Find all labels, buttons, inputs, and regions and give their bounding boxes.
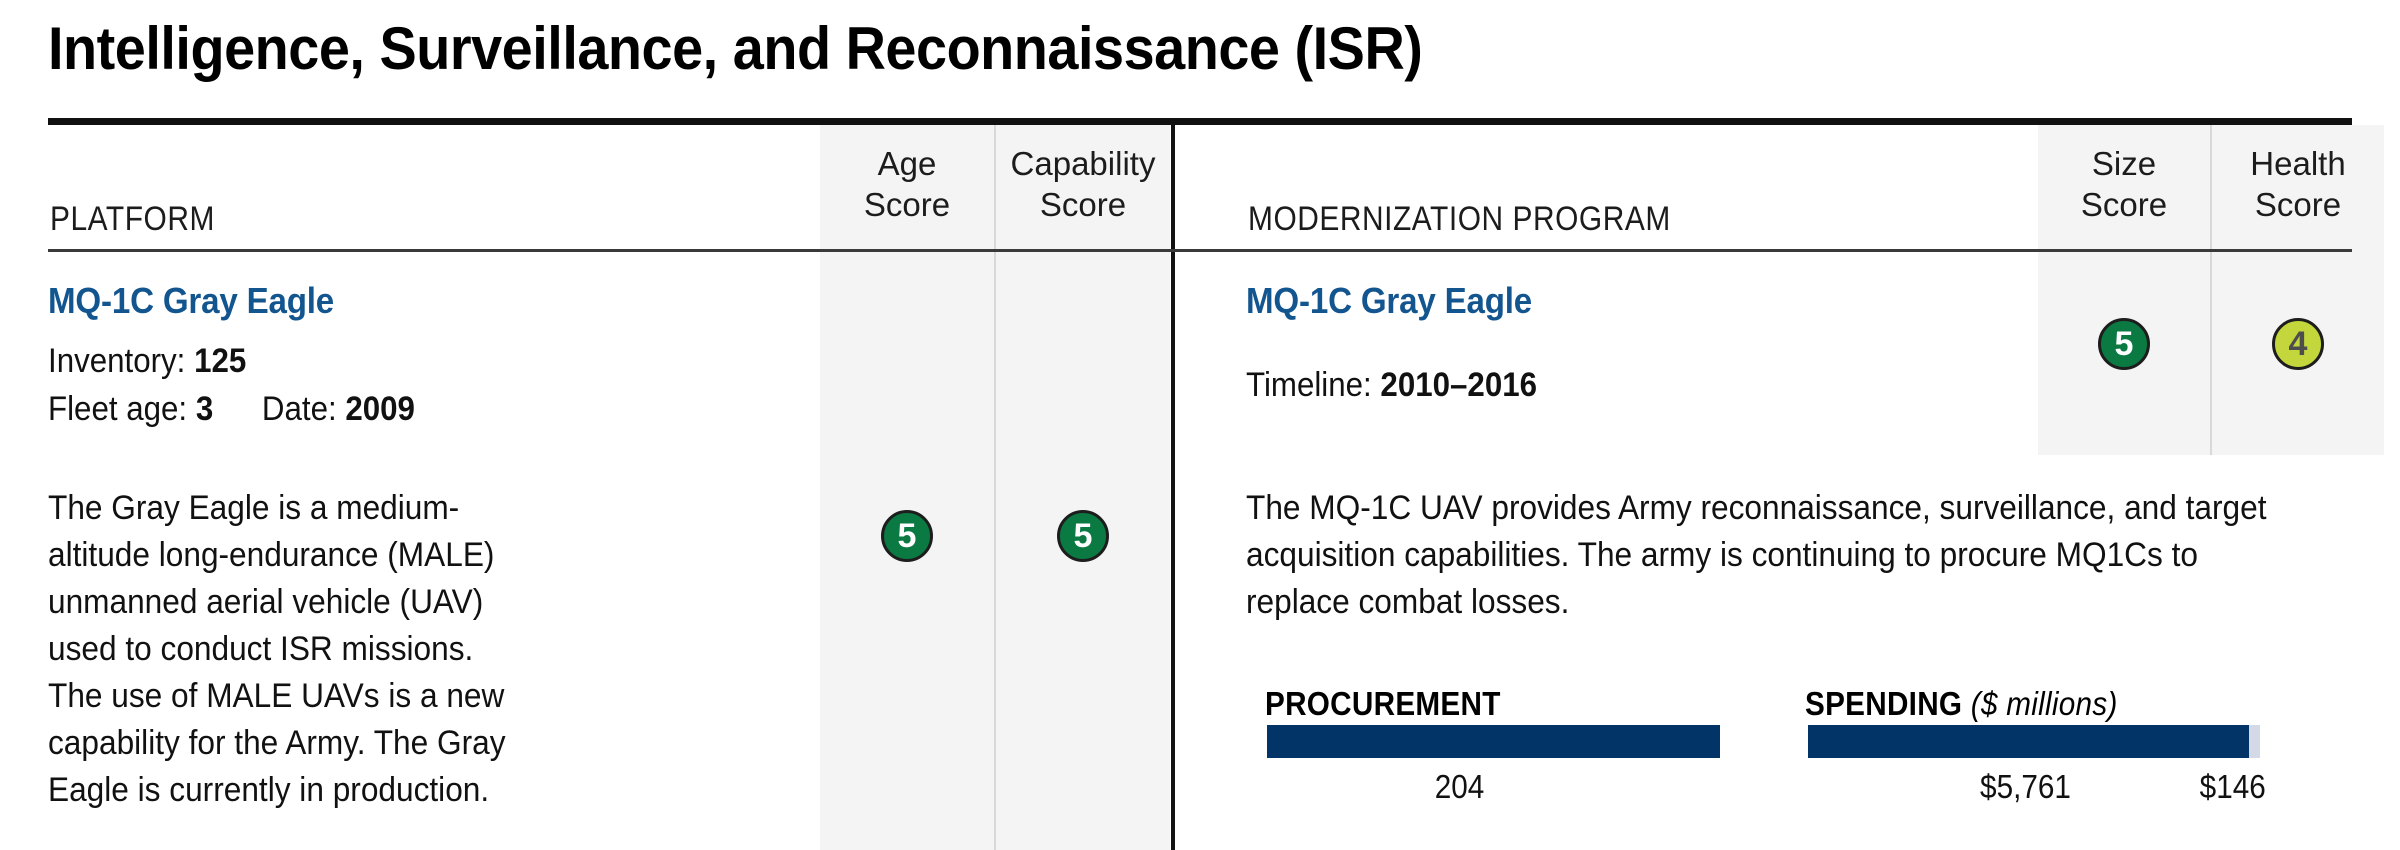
- capability-score-badge: 5: [1057, 510, 1109, 562]
- column-header-age-score-line1: Age: [820, 143, 994, 184]
- timeline-value: 2010–2016: [1380, 366, 1537, 404]
- column-header-age-score-line2: Score: [820, 184, 994, 225]
- capability-score-column: [996, 125, 1170, 850]
- column-header-size-score-line1: Size: [2038, 143, 2210, 184]
- procurement-bar: [1267, 725, 1720, 758]
- program-name[interactable]: MQ-1C Gray Eagle: [1246, 280, 1532, 322]
- column-header-age-score: Age Score: [820, 143, 994, 225]
- platform-name[interactable]: MQ-1C Gray Eagle: [48, 280, 334, 322]
- fleet-age-value: 3: [196, 390, 213, 428]
- spending-bar-segment-remaining: [2249, 725, 2260, 758]
- spending-bar-segment-spent: [1808, 725, 2249, 758]
- age-score-badge: 5: [881, 510, 933, 562]
- platform-fleet-age-and-date: Fleet age: 3 Date: 2009: [48, 390, 415, 429]
- column-header-health-score-line2: Score: [2212, 184, 2384, 225]
- column-header-capability-score: Capability Score: [996, 143, 1170, 225]
- spending-chart-title: SPENDING ($ millions): [1805, 685, 2118, 723]
- program-timeline: Timeline: 2010–2016: [1246, 366, 1537, 405]
- size-score-value: 5: [2115, 327, 2134, 361]
- age-score-value: 5: [898, 519, 917, 553]
- spending-title-unit: ($ millions): [1971, 685, 2118, 722]
- column-header-capability-score-line1: Capability: [996, 143, 1170, 184]
- column-header-health-score-line1: Health: [2212, 143, 2384, 184]
- age-capability-divider: [994, 125, 996, 850]
- spending-bar: [1808, 725, 2260, 758]
- inventory-label: Inventory:: [48, 342, 185, 380]
- date-label: Date:: [262, 390, 337, 428]
- age-score-column: [820, 125, 994, 850]
- procurement-bar-value: 204: [1435, 768, 1485, 806]
- procurement-chart-title: PROCUREMENT: [1265, 685, 1501, 723]
- fleet-age-label: Fleet age:: [48, 390, 187, 428]
- inventory-value: 125: [194, 342, 246, 380]
- center-section-divider: [1171, 125, 1175, 850]
- column-header-modernization-program: MODERNIZATION PROGRAM: [1248, 200, 1671, 239]
- health-score-value: 4: [2289, 327, 2308, 361]
- procurement-bar-segment: [1267, 725, 1720, 758]
- page-title: Intelligence, Surveillance, and Reconnai…: [48, 14, 1422, 83]
- title-divider: [48, 118, 2352, 125]
- column-header-size-score: Size Score: [2038, 143, 2210, 225]
- size-score-badge: 5: [2098, 318, 2150, 370]
- column-header-capability-score-line2: Score: [996, 184, 1170, 225]
- column-header-platform: PLATFORM: [50, 200, 215, 239]
- platform-description: The Gray Eagle is a medium-altitude long…: [48, 485, 522, 814]
- timeline-label: Timeline:: [1246, 366, 1372, 404]
- date-value: 2009: [345, 390, 415, 428]
- spending-bar-value-spent: $5,761: [1980, 768, 2071, 806]
- header-row-divider: [48, 249, 2352, 252]
- health-score-badge: 4: [2272, 318, 2324, 370]
- spending-title-text: SPENDING: [1805, 685, 1962, 722]
- spending-bar-value-remaining: $146: [2200, 768, 2266, 806]
- capability-score-value: 5: [1074, 519, 1093, 553]
- isr-platform-table: Intelligence, Surveillance, and Reconnai…: [0, 0, 2400, 850]
- column-header-health-score: Health Score: [2212, 143, 2384, 225]
- procurement-title-text: PROCUREMENT: [1265, 685, 1501, 722]
- column-header-size-score-line2: Score: [2038, 184, 2210, 225]
- platform-inventory: Inventory: 125: [48, 342, 246, 381]
- program-description: The MQ-1C UAV provides Army reconnaissan…: [1246, 485, 2297, 626]
